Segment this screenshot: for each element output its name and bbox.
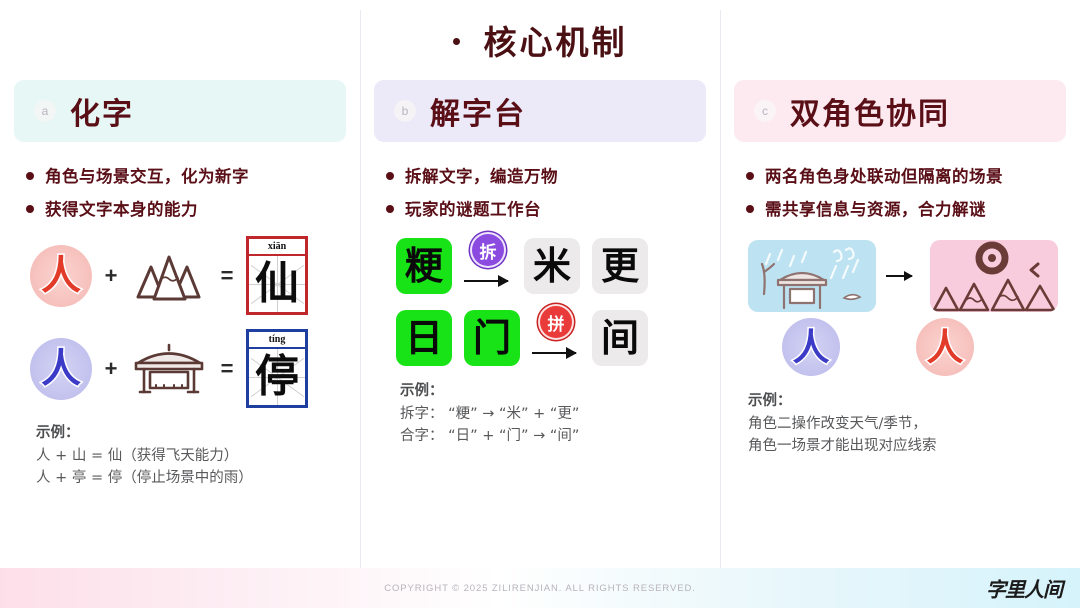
example-line: 角色二操作改变天气/季节， — [748, 413, 1080, 435]
bullet-item: 获得文字本身的能力 — [26, 197, 350, 223]
avatar-glyph: 人 — [793, 329, 830, 366]
char-tile-output[interactable]: 米 — [524, 238, 580, 294]
column-3-badge: c — [754, 100, 776, 122]
example-line: 人 + 亭 = 停（停止场景中的雨） — [36, 467, 360, 489]
decompose-row: 粳 拆 米 更 — [360, 238, 720, 294]
example-line: 拆字： “粳” → “米” + “更” — [400, 403, 720, 425]
copyright-text: COPYRIGHT © 2025 ZILIRENJIAN. ALL RIGHTS… — [384, 583, 696, 594]
arrow-icon — [886, 275, 912, 277]
bullet-text: 需共享信息与资源，合力解谜 — [765, 197, 986, 223]
combine-badge-icon: 拼 — [538, 304, 574, 340]
column-3-title: 双角色协同 — [790, 89, 950, 133]
column-2-header: b 解字台 — [374, 80, 706, 142]
bullet-dot-icon — [386, 205, 394, 213]
bullet-text: 玩家的谜题工作台 — [405, 197, 541, 223]
pinyin-label: tíng — [249, 332, 305, 349]
avatar-character-blue: 人 — [782, 318, 840, 376]
column-2-badge: b — [394, 100, 416, 122]
avatar-glyph: 人 — [41, 349, 81, 389]
columns-container: a 化字 角色与场景交互，化为新字 获得文字本身的能力 人 + — [0, 80, 1080, 550]
column-1-header: a 化字 — [14, 80, 346, 142]
column-1-bullets: 角色与场景交互，化为新字 获得文字本身的能力 — [0, 164, 360, 222]
column-2-bullets: 拆解文字，编造万物 玩家的谜题工作台 — [360, 164, 720, 222]
column-3-header: c 双角色协同 — [734, 80, 1066, 142]
column-jie-zi-tai: b 解字台 拆解文字，编造万物 玩家的谜题工作台 粳 拆 — [360, 80, 720, 550]
column-dual-role: c 双角色协同 两名角色身处联动但隔离的场景 需共享信息与资源，合力解谜 — [720, 80, 1080, 550]
bullet-dot-icon — [746, 172, 754, 180]
sunny-mountains-scene[interactable] — [930, 240, 1058, 312]
bullet-dot-icon — [386, 172, 394, 180]
bullet-dot-icon — [746, 205, 754, 213]
example-lead: 示例： — [36, 422, 360, 444]
bullet-item: 两名角色身处联动但隔离的场景 — [746, 164, 1070, 190]
char-tile-output[interactable]: 间 — [592, 310, 648, 366]
result-card-ting: tíng 停 — [246, 329, 308, 408]
avatar-glyph: 人 — [927, 329, 964, 366]
slide-title-row: 核心机制 — [0, 0, 1080, 80]
split-badge-icon: 拆 — [470, 232, 506, 268]
column-1-title: 化字 — [70, 89, 134, 133]
formula-row-ting: 人 + — [0, 329, 360, 408]
avatar-character-red: 人 — [916, 318, 974, 376]
arrow-icon — [464, 280, 508, 282]
result-card-xian: xiān 仙 — [246, 236, 308, 315]
example-line: 角色一场景才能出现对应线索 — [748, 435, 1080, 457]
bullet-dot-icon — [26, 205, 34, 213]
page-title: 核心机制 — [484, 16, 628, 64]
bullet-text: 角色与场景交互，化为新字 — [45, 164, 249, 190]
bullet-text: 获得文字本身的能力 — [45, 197, 198, 223]
tianzige-grid: 停 — [249, 349, 305, 405]
arrow-icon — [532, 352, 576, 354]
compose-arrow: 拼 — [532, 310, 580, 366]
brand-logo: 字里人间 — [986, 574, 1062, 603]
scene-transition-arrow — [886, 270, 920, 282]
example-lead: 示例： — [400, 380, 720, 402]
example-line: 人 + 山 = 仙（获得飞天能力） — [36, 445, 360, 467]
avatar-glyph: 人 — [41, 256, 81, 296]
result-glyph: 仙 — [249, 256, 305, 312]
char-tile-input[interactable]: 粳 — [396, 238, 452, 294]
column-2-title: 解字台 — [430, 89, 526, 133]
char-tile-output[interactable]: 更 — [592, 238, 648, 294]
avatar-character-blue: 人 — [30, 338, 92, 400]
bullet-text: 两名角色身处联动但隔离的场景 — [765, 164, 1003, 190]
column-3-example: 示例： 角色二操作改变天气/季节， 角色一场景才能出现对应线索 — [720, 390, 1080, 457]
formula-operator-equals: = — [218, 356, 236, 382]
title-bullet-icon — [453, 38, 460, 45]
rainy-pavilion-scene[interactable] — [748, 240, 876, 312]
decompose-arrow: 拆 — [464, 238, 512, 294]
char-tile-input[interactable]: 日 — [396, 310, 452, 366]
scene-pair — [720, 240, 1080, 312]
bullet-dot-icon — [26, 172, 34, 180]
bullet-item: 拆解文字，编造万物 — [386, 164, 710, 190]
tianzige-grid: 仙 — [249, 256, 305, 312]
formula-row-xian: 人 + = xiān — [0, 236, 360, 315]
slide-root: 核心机制 a 化字 角色与场景交互，化为新字 获得文字本身的能力 — [0, 0, 1080, 608]
scene-avatars: 人 人 — [720, 318, 1080, 376]
bullet-item: 角色与场景交互，化为新字 — [26, 164, 350, 190]
avatar-character-red: 人 — [30, 245, 92, 307]
char-tile-input[interactable]: 门 — [464, 310, 520, 366]
column-hua-zi: a 化字 角色与场景交互，化为新字 获得文字本身的能力 人 + — [0, 80, 360, 550]
result-glyph: 停 — [249, 349, 305, 405]
column-1-example: 示例： 人 + 山 = 仙（获得飞天能力） 人 + 亭 = 停（停止场景中的雨） — [0, 422, 360, 489]
pavilion-sketch-icon — [130, 338, 208, 400]
compose-row: 日 门 拼 间 — [360, 310, 720, 366]
bullet-item: 玩家的谜题工作台 — [386, 197, 710, 223]
formula-operator-plus: + — [102, 263, 120, 289]
mountain-sketch-icon — [130, 245, 208, 307]
example-lead: 示例： — [748, 390, 1080, 412]
bullet-item: 需共享信息与资源，合力解谜 — [746, 197, 1070, 223]
example-line: 合字： “日” + “门” → “间” — [400, 425, 720, 447]
formula-operator-equals: = — [218, 263, 236, 289]
bullet-text: 拆解文字，编造万物 — [405, 164, 558, 190]
footer-bar: COPYRIGHT © 2025 ZILIRENJIAN. ALL RIGHTS… — [0, 568, 1080, 608]
column-1-badge: a — [34, 100, 56, 122]
formula-operator-plus: + — [102, 356, 120, 382]
pinyin-label: xiān — [249, 239, 305, 256]
column-2-example: 示例： 拆字： “粳” → “米” + “更” 合字： “日” + “门” → … — [360, 380, 720, 447]
column-3-bullets: 两名角色身处联动但隔离的场景 需共享信息与资源，合力解谜 — [720, 164, 1080, 222]
